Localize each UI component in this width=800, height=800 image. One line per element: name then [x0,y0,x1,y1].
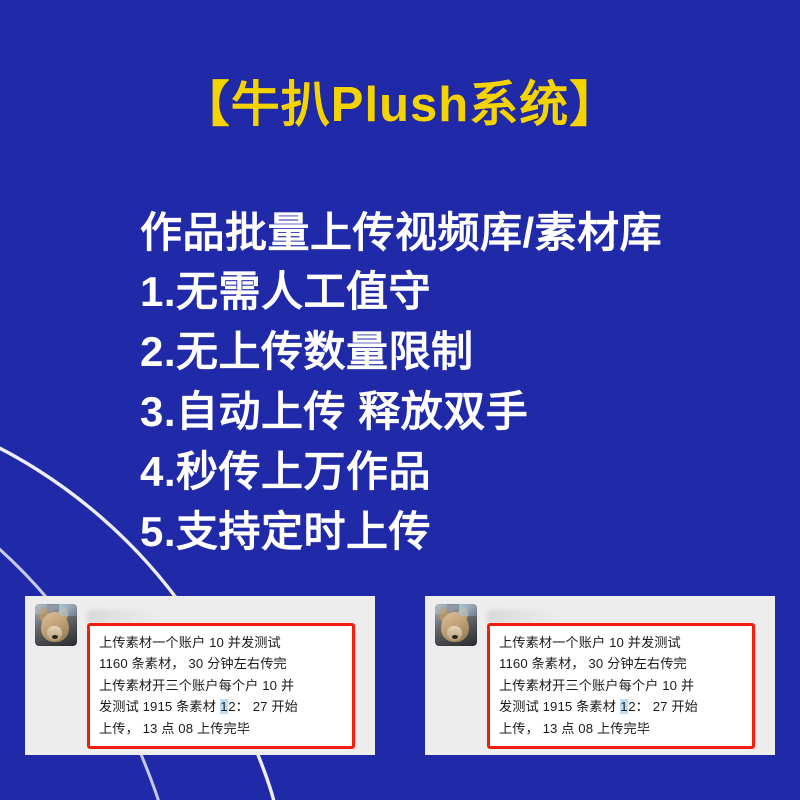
feature-item-4: 4.秒传上万作品 [140,442,662,502]
bubble-line-4-suffix: 2： 27 开始 [628,699,698,714]
proof-card-right: 上传素材一个账户 10 并发测试 1160 条素材， 30 分钟左右传完 上传素… [425,596,775,755]
promo-poster: 【牛扒Plush系统】 作品批量上传视频库/素材库 1.无需人工值守 2.无上传… [0,0,800,800]
chat-bubble-left: 上传素材一个账户 10 并发测试 1160 条素材， 30 分钟左右传完 上传素… [87,623,355,749]
bubble-line-1: 上传素材一个账户 10 并发测试 [499,632,745,653]
bubble-line-4-highlight: 1 [620,699,628,714]
bubble-line-4-highlight: 1 [220,699,228,714]
feature-item-3: 3.自动上传 释放双手 [140,382,662,442]
bubble-line-4: 发测试 1915 条素材 12： 27 开始 [99,696,345,717]
feature-item-1: 1.无需人工值守 [140,262,662,322]
bubble-line-5: 上传， 13 点 08 上传完毕 [99,718,345,739]
bubble-line-1: 上传素材一个账户 10 并发测试 [99,632,345,653]
proof-card-left: 上传素材一个账户 10 并发测试 1160 条素材， 30 分钟左右传完 上传素… [25,596,375,755]
feature-item-5: 5.支持定时上传 [140,502,662,562]
bubble-line-3: 上传素材开三个账户每个户 10 并 [99,675,345,696]
bubble-line-2: 1160 条素材， 30 分钟左右传完 [99,653,345,674]
bubble-line-4-suffix: 2： 27 开始 [228,699,298,714]
bubble-line-4-prefix: 发测试 1915 条素材 [99,699,220,714]
bubble-line-5: 上传， 13 点 08 上传完毕 [499,718,745,739]
headline: 作品批量上传视频库/素材库 [140,208,662,258]
bubble-line-3: 上传素材开三个账户每个户 10 并 [499,675,745,696]
page-title: 【牛扒Plush系统】 [0,79,800,133]
avatar [435,604,477,646]
sender-name-redacted [87,610,159,623]
proof-card-group: 上传素材一个账户 10 并发测试 1160 条素材， 30 分钟左右传完 上传素… [0,596,800,756]
feature-item-2: 2.无上传数量限制 [140,322,662,382]
chat-bubble-right: 上传素材一个账户 10 并发测试 1160 条素材， 30 分钟左右传完 上传素… [487,623,755,749]
bubble-line-4: 发测试 1915 条素材 12： 27 开始 [499,696,745,717]
bubble-line-2: 1160 条素材， 30 分钟左右传完 [499,653,745,674]
content-block: 作品批量上传视频库/素材库 1.无需人工值守 2.无上传数量限制 3.自动上传 … [140,208,662,562]
sender-name-redacted [487,610,559,623]
feature-list: 1.无需人工值守 2.无上传数量限制 3.自动上传 释放双手 4.秒传上万作品 … [140,262,662,562]
bubble-line-4-prefix: 发测试 1915 条素材 [499,699,620,714]
avatar [35,604,77,646]
